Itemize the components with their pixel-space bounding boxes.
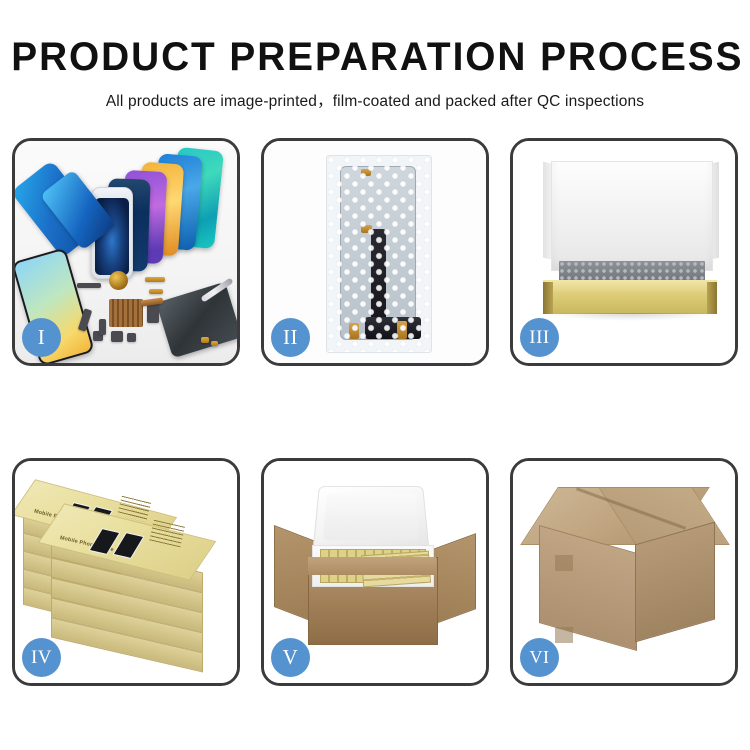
carton-tape-lower — [555, 627, 573, 643]
camera-lens-part — [109, 271, 128, 290]
panel-step-3[interactable]: III — [510, 138, 738, 366]
step-badge-5: V — [271, 638, 310, 677]
panel-step-5[interactable]: V — [261, 458, 489, 686]
process-step-grid: I II — [12, 138, 738, 686]
panel-step-2[interactable]: II — [261, 138, 489, 366]
screw-part-a — [201, 337, 209, 343]
foam-cooler-lid — [313, 486, 429, 547]
page-header: PRODUCT PREPARATION PROCESS All products… — [0, 0, 750, 111]
box-base-front-edge — [543, 280, 717, 292]
page-title: PRODUCT PREPARATION PROCESS — [11, 34, 739, 80]
step-5-photo: V — [264, 461, 486, 683]
panel-step-4[interactable]: Mobile Phone Spare Parts Mobile Phone Sp… — [12, 458, 240, 686]
step-badge-1: I — [22, 318, 61, 357]
box-base-right-cap — [707, 282, 717, 314]
vibration-motor-part — [111, 331, 123, 342]
step-4-photo: Mobile Phone Spare Parts Mobile Phone Sp… — [15, 461, 237, 683]
step-1-photo: I — [15, 141, 237, 363]
panel-step-1[interactable]: I — [12, 138, 240, 366]
panel-step-6[interactable]: VI — [510, 458, 738, 686]
earpiece-part — [77, 283, 101, 288]
bubble-wrap-texture — [327, 156, 431, 352]
step-3-photo: III — [513, 141, 735, 363]
bubble-wrap-pouch — [326, 155, 432, 353]
logic-board-part — [109, 299, 143, 327]
box-drop-shadow — [547, 313, 715, 321]
carton-tape-upper — [555, 555, 573, 571]
box-white-lid — [551, 161, 713, 271]
step-badge-6: VI — [520, 638, 559, 677]
box-base-left-cap — [543, 282, 553, 314]
step-badge-2: II — [271, 318, 310, 357]
button-flex-part — [99, 319, 106, 335]
step-badge-3: III — [520, 318, 559, 357]
step-2-photo: II — [264, 141, 486, 363]
sim-tray-part — [147, 303, 159, 323]
screw-set-part — [127, 333, 136, 342]
step-6-photo: VI — [513, 461, 735, 683]
bracket-part-1 — [145, 277, 165, 282]
step-badge-4: IV — [22, 638, 61, 677]
page-subtitle: All products are image-printed，film-coat… — [0, 89, 750, 111]
foam-cooler-lid-inner — [323, 494, 419, 540]
bracket-part-2 — [149, 289, 163, 294]
carton-front-rim — [308, 557, 436, 575]
screw-part-b — [211, 341, 218, 346]
